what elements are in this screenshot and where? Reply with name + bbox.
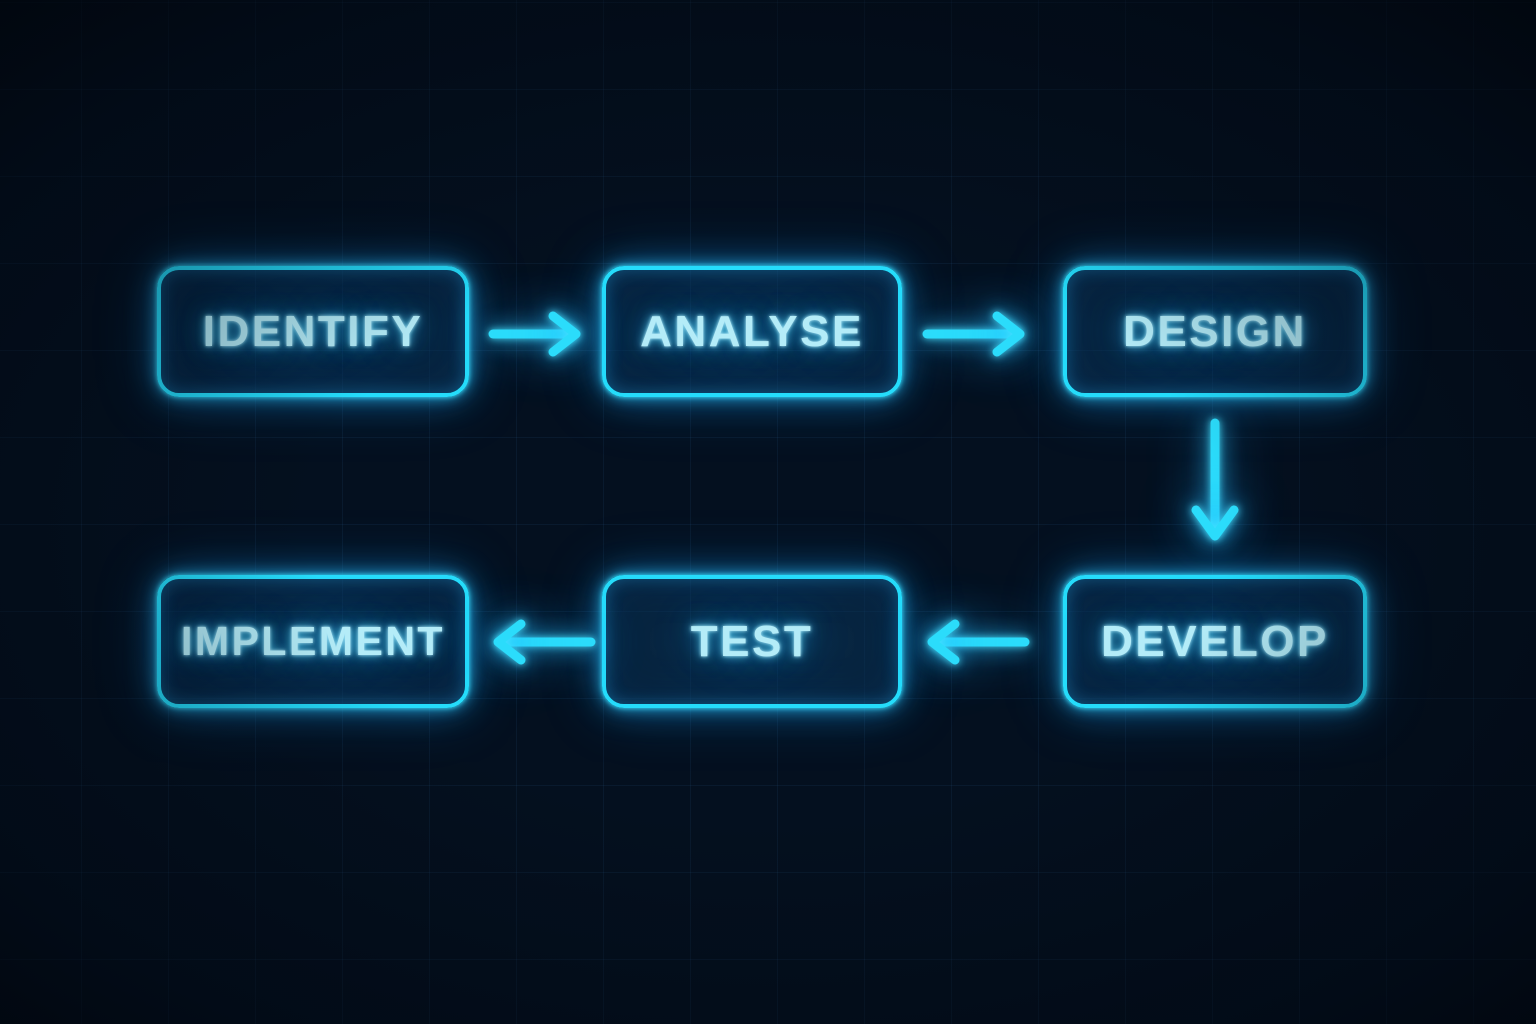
process-node-design[interactable]: DESIGN	[1063, 266, 1367, 397]
arrow-down-design-to-develop	[1191, 418, 1239, 546]
diagram-canvas: IDENTIFY ANALYSE DESIGN DEVELOP TEST IMP…	[0, 0, 1536, 1024]
node-label: DEVELOP	[1101, 617, 1329, 667]
process-node-analyse[interactable]: ANALYSE	[602, 266, 902, 397]
process-node-implement[interactable]: IMPLEMENT	[157, 575, 469, 708]
node-label: DESIGN	[1123, 307, 1307, 357]
arrow-right-identify-to-analyse	[488, 310, 586, 358]
node-label: IDENTIFY	[203, 307, 423, 357]
arrow-left-develop-to-test	[922, 618, 1030, 666]
arrow-left-test-to-implement	[488, 618, 596, 666]
vignette-overlay	[0, 0, 1536, 1024]
process-node-test[interactable]: TEST	[602, 575, 902, 708]
node-label: TEST	[691, 617, 813, 667]
background-grid	[0, 0, 1536, 1024]
node-label: ANALYSE	[640, 307, 864, 357]
arrow-right-analyse-to-design	[922, 310, 1030, 358]
process-node-identify[interactable]: IDENTIFY	[157, 266, 469, 397]
node-label: IMPLEMENT	[181, 618, 445, 665]
process-node-develop[interactable]: DEVELOP	[1063, 575, 1367, 708]
